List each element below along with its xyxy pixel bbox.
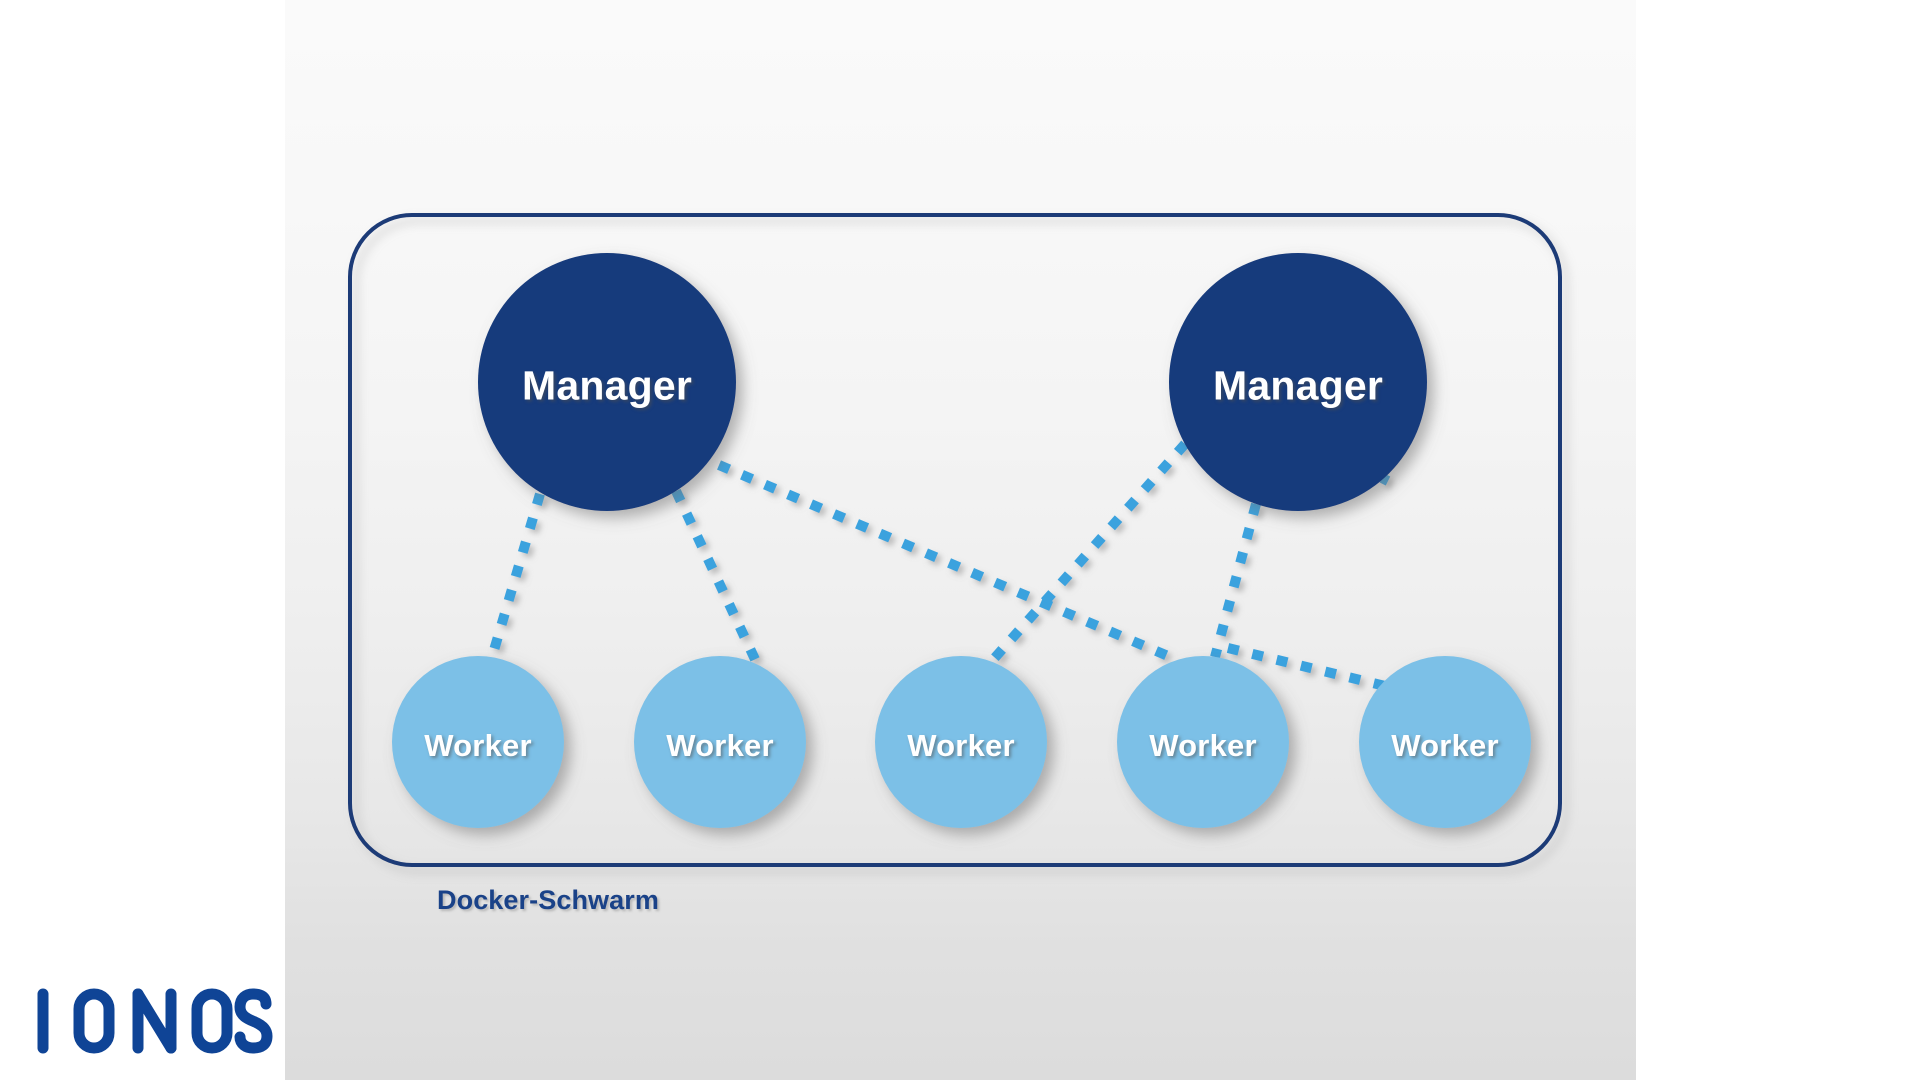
worker-4-circle[interactable]	[1117, 656, 1289, 828]
swarm-caption: Docker-Schwarm	[437, 885, 659, 916]
link-manager2-worker3	[991, 444, 1185, 662]
link-manager2-worker5-main	[1376, 480, 1384, 688]
link-manager1-worker1	[492, 494, 540, 657]
link-manager1-worker4	[719, 465, 1175, 659]
docker-swarm-diagram	[0, 0, 1920, 1080]
manager-1-circle[interactable]	[478, 253, 736, 511]
worker-1-circle[interactable]	[392, 656, 564, 828]
link-manager2-worker4	[1215, 504, 1256, 657]
logo-letter-o-1	[79, 994, 109, 1048]
worker-2-circle[interactable]	[634, 656, 806, 828]
logo-letter-s	[240, 994, 267, 1048]
worker-5-circle[interactable]	[1359, 656, 1531, 828]
link-manager1-worker2	[676, 491, 760, 670]
ionos-logo	[34, 985, 274, 1057]
manager-2-circle[interactable]	[1169, 253, 1427, 511]
slide-canvas: Manager Manager Worker Worker Worker Wor…	[0, 0, 1920, 1080]
logo-letter-o-2	[197, 994, 227, 1048]
worker-3-circle[interactable]	[875, 656, 1047, 828]
worker-nodes	[392, 656, 1531, 828]
